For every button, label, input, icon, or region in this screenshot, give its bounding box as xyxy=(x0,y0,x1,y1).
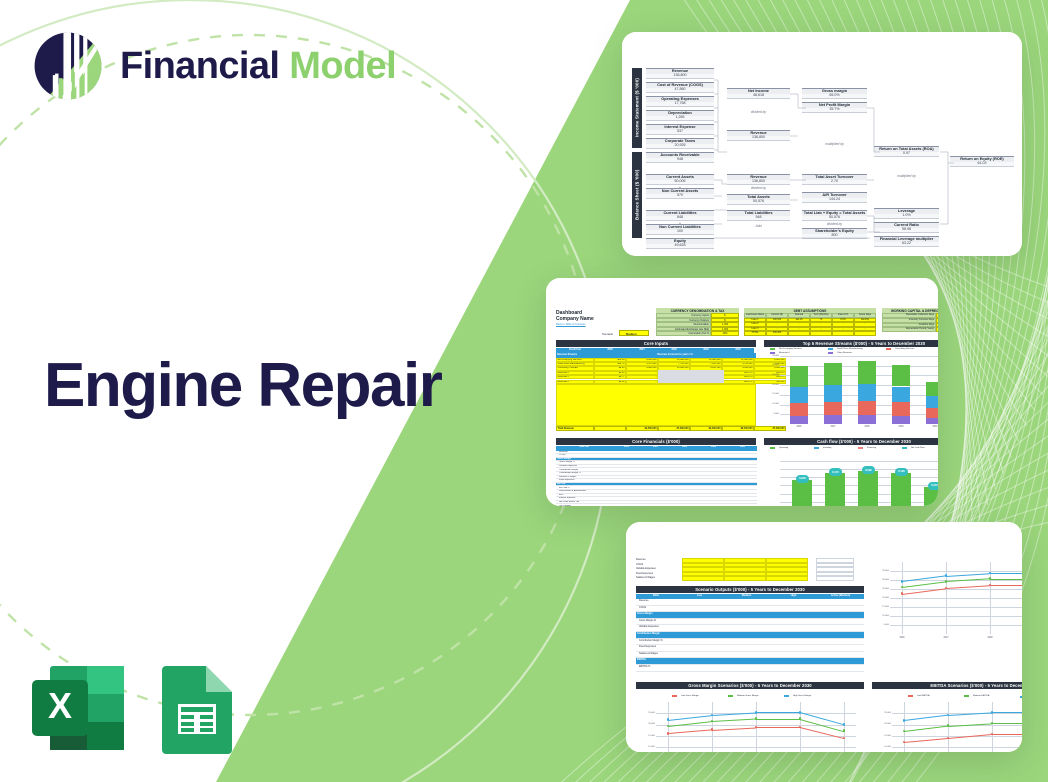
revenue-bar-2-0 xyxy=(858,415,876,424)
scenario-row-cell-7-1 xyxy=(723,645,770,652)
scen-ytick-266-2: 15,000 xyxy=(876,735,891,737)
cashflow-bar-2 xyxy=(858,471,878,506)
scen-ytick-264-6: 35,000 xyxy=(874,570,889,572)
scen-pt-30-1-4 xyxy=(843,729,846,732)
core-fin-cell-15-0 xyxy=(612,505,641,507)
ratio-node-3-value: 144.24 xyxy=(802,198,867,203)
balance-node-1-value: 50,006 xyxy=(646,180,714,185)
cashflow-legend-0: Operating xyxy=(770,447,788,449)
core-input-total-1 xyxy=(594,426,626,431)
balance-node-3-value: 848 xyxy=(646,216,714,221)
scen-xtick-264-1: 2027 xyxy=(937,637,955,639)
scen-legend-30-1: Medium Gross Margin xyxy=(728,695,759,697)
operator-divided-2: divided by xyxy=(727,186,790,190)
legend-swatch-1 xyxy=(728,695,733,697)
scenario-row-cell-1-1 xyxy=(723,606,770,613)
scen-legend-30-2: High Gross Margin xyxy=(784,695,811,697)
scenario-row-label-8: Salaries & Wages xyxy=(636,652,676,659)
scenario-row-cell-3-2 xyxy=(770,619,817,626)
revenue-ytick-2: 10,000 xyxy=(766,403,779,405)
scenario-row-cell-1-2 xyxy=(770,606,817,613)
revenue-bar-1-1 xyxy=(824,402,842,416)
scenario-row-cell-4-0 xyxy=(676,625,723,632)
scen-ytick-266-3: 20,000 xyxy=(876,723,891,725)
scenario-row-label-0: Revenue xyxy=(636,599,676,606)
core-input-header-0: Fixed/Year xyxy=(556,348,594,353)
panel-header-1: Top 5 Revenue Streams ($'000) - 5 Years … xyxy=(764,340,938,347)
revenue-ytick-7: 35,000 xyxy=(766,355,779,357)
revenue-bar-1-2 xyxy=(824,385,842,401)
income-node-1-value: 47,880 xyxy=(646,88,714,93)
scen-pt-30-0-4 xyxy=(843,723,846,726)
scenario-row-cell-0-3 xyxy=(817,599,864,606)
revenue-ytick-6: 30,000 xyxy=(766,364,779,366)
revenue-ytick-1: 5,000 xyxy=(766,413,779,415)
scen-legend-266-2: High EBITDA xyxy=(1020,695,1022,699)
scen-toprow-cell-4-1 xyxy=(724,576,766,581)
legend-label-0: Operating xyxy=(779,447,788,449)
core-input-header-1: 2026 xyxy=(594,348,626,353)
revenue-bar-2-1 xyxy=(858,401,876,415)
legend-swatch-0 xyxy=(672,695,677,697)
revenue-bar-4-0 xyxy=(926,418,938,424)
scenario-panel-header-1: Gross Margin Scenarios ($'000) - 5 Years… xyxy=(636,682,864,689)
scenario-row-cell-10-0 xyxy=(676,665,723,672)
legend-swatch-3 xyxy=(770,352,775,354)
scenario-row-label-9: EBITDA xyxy=(636,658,676,665)
core-input-total-2: 33,450,000 xyxy=(626,426,658,431)
final-node-1: Leverage1.0% xyxy=(874,208,939,219)
scen-ytick-266-4: 25,000 xyxy=(876,712,891,714)
dashboard-toc-link[interactable]: Back to Table of Contents xyxy=(556,323,586,326)
revenue-bar-1-3 xyxy=(824,363,842,385)
legend-label-0: Low EBITDA xyxy=(917,695,930,697)
revenue-bar-3-3 xyxy=(892,365,910,387)
revenue-bar-3-2 xyxy=(892,387,910,403)
scenario-row-cell-6-2 xyxy=(770,639,817,646)
scenario-row-label-7: Fixed Expenses xyxy=(636,645,676,652)
scen-seg-266-1-0 xyxy=(904,726,948,732)
scen-seg-30-1-1 xyxy=(712,719,756,722)
scen-seg-266-1-2 xyxy=(992,723,1022,724)
mid-node-1-value: 136,800 xyxy=(727,136,790,141)
core-input-total-0: Total Revenue xyxy=(556,426,594,431)
income-node-0: Revenue136,800 xyxy=(646,68,714,79)
ratio-node-2: Total Asset Turnover2.70 xyxy=(802,174,867,185)
dupont-ratio-tree-screenshot[interactable]: Income Statement ($ '000) Balance Sheet … xyxy=(622,32,1022,256)
operator-add: Add xyxy=(727,224,790,228)
revenue-bar-4-2 xyxy=(926,396,938,408)
scen-ytick-264-3: 20,000 xyxy=(874,597,889,599)
income-node-4-value: 537 xyxy=(646,130,714,135)
income-node-3: Depreciation1,265 xyxy=(646,110,714,121)
income-node-1: Cost of Revenue (COGS)47,880 xyxy=(646,82,714,93)
mid-node-1: Revenue136,800 xyxy=(727,130,790,141)
revenue-bar-0-1 xyxy=(790,403,808,416)
scenario-row-label-10: EBITDA % xyxy=(636,665,676,672)
scen-xtick-264-0: 2026 xyxy=(893,637,911,639)
ratio-node-5-value: 800 xyxy=(802,234,867,239)
final-node-0-value: 0.97 xyxy=(874,152,939,157)
scen-ytick-264-0: 5,000 xyxy=(874,624,889,626)
core-input-blank-block xyxy=(658,370,724,383)
scen-seg-30-2-0 xyxy=(668,730,712,734)
mid-node-0: Net Income48,618 xyxy=(727,88,790,99)
brand-word-financial: Financial xyxy=(120,45,279,87)
assumption-1-cell-3-1: 100,000 xyxy=(766,331,788,336)
revenue-legend-3: Revenue 4 xyxy=(770,352,790,354)
core-input-filler xyxy=(556,384,756,426)
scenario-row-cell-9-1 xyxy=(723,658,770,665)
scenario-row-cell-9-3 xyxy=(817,658,864,665)
legend-swatch-0 xyxy=(908,695,913,697)
cashflow-legend-2: Financing xyxy=(858,447,876,449)
dashboard-screenshot[interactable]: Dashboard Company Name Back to Table of … xyxy=(546,278,938,506)
scenario-panel-header-2: EBITDA Scenarios ($'000) - 5 Years to De… xyxy=(872,682,1022,689)
scenario-row-cell-5-1 xyxy=(723,632,770,639)
scen-seg-264-0-2 xyxy=(990,573,1022,574)
balance-node-2: Non Current Assets570 xyxy=(646,188,714,199)
scenario-row-cell-6-3 xyxy=(817,639,864,646)
slide-canvas: Financial Model Engine Repair X xyxy=(0,0,1048,782)
scen-seg-264-0-0 xyxy=(902,576,946,582)
core-input-total-6: 37,230,000 xyxy=(754,426,786,431)
legend-label-2: Consulting Services xyxy=(895,348,914,350)
legend-label-0: Low Gross Margin xyxy=(681,695,699,697)
scen-seg-30-2-2 xyxy=(756,727,800,728)
scenario-row-cell-8-1 xyxy=(723,652,770,659)
scen-seg-30-0-3 xyxy=(800,712,844,725)
scenario-row-cell-5-3 xyxy=(817,632,864,639)
assumption-0-value-4: 19% xyxy=(711,331,739,336)
scenario-row-label-4: Variable Expenses xyxy=(636,625,676,632)
cashflow-bar-3 xyxy=(891,473,911,506)
dashboard-company-name: Company Name xyxy=(556,316,594,322)
operator-multiplied-1: multiplied by xyxy=(802,142,867,146)
revenue-xtick-0: 2026 xyxy=(790,426,808,428)
mid-node-2: Revenue136,800 xyxy=(727,174,790,185)
legend-swatch-2 xyxy=(1020,696,1022,698)
scenario-row-cell-9-0 xyxy=(676,658,723,665)
ratio-node-2-value: 2.70 xyxy=(802,180,867,185)
legend-swatch-1 xyxy=(828,348,833,350)
scenario-row-cell-4-1 xyxy=(723,625,770,632)
core-input-total-5: 38,150,000 xyxy=(722,426,754,431)
scenario-row-cell-8-3 xyxy=(817,652,864,659)
cashflow-bubble-2: 8,592 xyxy=(862,466,875,474)
scenario-row-cell-7-0 xyxy=(676,645,723,652)
revenue-bar-0-2 xyxy=(790,387,808,403)
legend-label-4: Other Revenue xyxy=(837,352,852,354)
scen-ytick-30-1: 10,000 xyxy=(640,746,655,748)
legend-swatch-4 xyxy=(828,352,833,354)
operator-divided-1: divided by xyxy=(727,110,790,114)
revenue-bar-1-0 xyxy=(824,415,842,424)
scen-seg-264-2-1 xyxy=(946,585,990,588)
scen-seg-264-2-2 xyxy=(990,585,1022,586)
revenue-ytick-4: 20,000 xyxy=(766,384,779,386)
revenue-bar-2-3 xyxy=(858,361,876,384)
file-format-icons: X xyxy=(28,662,238,754)
revenue-legend-2: Consulting Services xyxy=(886,348,914,350)
revenue-xtick-4: 2030 xyxy=(926,426,938,428)
revenue-legend-0: Re-Occupying Services xyxy=(770,348,802,350)
income-statement-side-label: Income Statement ($ '000) xyxy=(632,68,642,148)
scenario-row-cell-7-3 xyxy=(817,645,864,652)
ratio-node-3: A/R Turnover144.24 xyxy=(802,192,867,203)
revenue-ytick-5: 25,000 xyxy=(766,374,779,376)
brand-wordmark: Financial Model xyxy=(120,47,396,85)
scenario-select[interactable]: Medium xyxy=(619,330,649,336)
operator-multiplied-2: multiplied by xyxy=(874,174,939,178)
scenario-row-label-2: Gross Margin xyxy=(636,612,676,619)
scen-seg-264-0-1 xyxy=(946,573,990,576)
legend-swatch-0 xyxy=(770,447,775,449)
balance-node-0: Accounts Receivable948 xyxy=(646,152,714,163)
core-fin-cell-15-2 xyxy=(670,505,699,507)
legend-label-1: Small Parts Manufacturing xyxy=(837,348,863,350)
income-node-0-value: 136,800 xyxy=(646,74,714,79)
balance-node-0-value: 948 xyxy=(646,158,714,163)
scen-seg-30-0-0 xyxy=(668,715,712,720)
final-node-1-value: 1.0% xyxy=(874,214,939,219)
revenue-xtick-1: 2027 xyxy=(824,426,842,428)
revenue-bar-4-1 xyxy=(926,408,938,418)
scenario-row-cell-2-2 xyxy=(770,612,817,619)
scenario-row-cell-6-0 xyxy=(676,639,723,646)
income-node-5-value: 20,926 xyxy=(646,144,714,149)
legend-label-1: Medium Gross Margin xyxy=(737,695,759,697)
revenue-bar-0-3 xyxy=(790,366,808,387)
balance-node-1: Current Assets50,006 xyxy=(646,174,714,185)
scenario-row-cell-0-1 xyxy=(723,599,770,606)
revenue-xtick-3: 2029 xyxy=(892,426,910,428)
core-fin-row-15: Tax Payable xyxy=(556,505,612,507)
revenue-legend-1: Small Parts Manufacturing xyxy=(828,348,863,350)
scenario-row-cell-1-3 xyxy=(817,606,864,613)
balance-node-3: Current Liabilities848 xyxy=(646,210,714,221)
scen-xtick-264-2: 2028 xyxy=(981,637,999,639)
scenario-row-cell-4-3 xyxy=(817,625,864,632)
scenario-row-label-1: COGS xyxy=(636,606,676,613)
scenario-row-cell-5-0 xyxy=(676,632,723,639)
legend-swatch-3 xyxy=(902,447,907,449)
scenario-row-cell-0-0 xyxy=(676,599,723,606)
final-node-roe: Return on Equity (ROE)61.03 xyxy=(950,156,1014,167)
legend-label-3: Revenue 4 xyxy=(779,352,790,354)
scen-ytick-266-1: 10,000 xyxy=(876,746,891,748)
scen-toprow-active-4 xyxy=(816,576,854,581)
scen-toprow-cell-4-2 xyxy=(766,576,808,581)
balance-node-5: Equity49,628 xyxy=(646,238,714,249)
legend-swatch-2 xyxy=(886,348,891,350)
balance-node-4: Non Current Liabilities100 xyxy=(646,224,714,235)
scenario-row-cell-10-3 xyxy=(817,665,864,672)
core-input-header-3: 2028 xyxy=(658,348,690,353)
legend-label-0: Re-Occupying Services xyxy=(779,348,802,350)
balance-node-5-value: 49,628 xyxy=(646,244,714,249)
scen-seg-266-0-0 xyxy=(904,715,948,721)
income-node-4: Interest Expense537 xyxy=(646,124,714,135)
assumption-1-cell-3-2 xyxy=(788,331,810,336)
core-fin-cell-15-3 xyxy=(699,505,728,507)
panel-header-0: Core Inputs xyxy=(556,340,756,347)
scen-seg-264-1-2 xyxy=(990,579,1022,580)
final-node-3-value: 63.22 xyxy=(874,242,939,247)
scenario-outputs-screenshot[interactable]: RevenueCOGSVariable ExpensesFixed Expens… xyxy=(626,522,1022,752)
scen-toprow-cell-4-0 xyxy=(682,576,724,581)
cashflow-bubble-4: 5,010 xyxy=(928,482,938,490)
scen-legend-30-0: Low Gross Margin xyxy=(672,695,699,697)
assumption-2-label-3: Depreciation Period (Years) xyxy=(882,327,936,332)
balance-node-4-value: 100 xyxy=(646,230,714,235)
income-node-2: Operating Expenses17,758 xyxy=(646,96,714,107)
assumption-1-cell-3-3 xyxy=(810,331,832,336)
scenario-row-cell-2-1 xyxy=(723,612,770,619)
ratio-node-0: Gross margin65.0% xyxy=(802,88,867,99)
mid-node-4: Total Liabilities948 xyxy=(727,210,790,221)
mid-node-3-value: 50,576 xyxy=(727,200,790,205)
ratio-node-0-value: 65.0% xyxy=(802,94,867,99)
scen-seg-30-0-2 xyxy=(756,712,800,713)
brand-word-model: Model xyxy=(289,45,396,87)
scen-ytick-264-1: 10,000 xyxy=(874,615,889,617)
scenario-row-cell-1-0 xyxy=(676,606,723,613)
income-node-5: Corporate Taxes20,926 xyxy=(646,138,714,149)
final-node-2-value: 58.98 xyxy=(874,228,939,233)
mid-node-4-value: 948 xyxy=(727,216,790,221)
cashflow-bubble-1: 8,173 xyxy=(829,468,842,476)
revenue-bar-2-2 xyxy=(858,384,876,401)
assumption-2-value-3: 5 xyxy=(936,327,938,332)
scen-ytick-30-4: 25,000 xyxy=(640,712,655,714)
excel-icon[interactable]: X xyxy=(28,662,128,754)
core-fin-cell-15-4 xyxy=(728,505,757,507)
ratio-node-5: Shareholder's Equity800 xyxy=(802,228,867,239)
legend-swatch-2 xyxy=(784,695,789,697)
scenario-row-cell-9-2 xyxy=(770,658,817,665)
scenario-row-cell-3-3 xyxy=(817,619,864,626)
operator-divided-3: divided by xyxy=(802,222,867,226)
core-input-total-3: 37,460,000 xyxy=(658,426,690,431)
scenario-row-label-6: Contribution Margin % xyxy=(636,639,676,646)
revenue-legend-4: Other Revenue xyxy=(828,352,852,354)
scen-ytick-264-5: 30,000 xyxy=(874,579,889,581)
panel-header-3: Core Financials ($'000) xyxy=(556,438,756,445)
scenario-row-label-5: Contribution Margin xyxy=(636,632,676,639)
scenario-value: Medium xyxy=(626,332,637,336)
scenario-row-cell-3-1 xyxy=(723,619,770,626)
scenario-row-cell-2-0 xyxy=(676,612,723,619)
final-node-0: Return on Total Assets (ROA)0.97 xyxy=(874,146,939,157)
scen-seg-30-1-2 xyxy=(756,719,800,720)
scenario-label: Scenario xyxy=(602,332,613,336)
scen-seg-30-2-1 xyxy=(712,727,756,730)
scen-legend-266-0: Low EBITDA xyxy=(908,695,930,697)
scen-seg-266-0-2 xyxy=(992,712,1022,713)
legend-label-2: Financing xyxy=(867,447,876,449)
scen-ytick-264-2: 15,000 xyxy=(874,606,889,608)
scenario-row-cell-4-2 xyxy=(770,625,817,632)
revenue-bar-3-0 xyxy=(892,416,910,424)
scen-seg-264-1-0 xyxy=(902,581,946,587)
scenario-row-cell-10-1 xyxy=(723,665,770,672)
legend-swatch-2 xyxy=(858,447,863,449)
scen-toprow-label-4: Salaries & Wages xyxy=(636,576,682,581)
scenario-row-cell-3-0 xyxy=(676,619,723,626)
legend-label-1: Medium EBITDA xyxy=(973,695,989,697)
final-node-2: Current Ratio58.98 xyxy=(874,222,939,233)
scen-legend-266-1: Medium EBITDA xyxy=(964,695,989,697)
core-fin-cell-15-1 xyxy=(641,505,670,507)
scen-seg-266-2-0 xyxy=(904,738,948,743)
scenario-row-cell-0-2 xyxy=(770,599,817,606)
core-input-header-4: 2029 xyxy=(690,348,722,353)
mid-node-3: Total Assets50,576 xyxy=(727,194,790,205)
page-title: Engine Repair xyxy=(44,352,441,420)
scenario-row-cell-2-3 xyxy=(817,612,864,619)
brand-logo: Financial Model xyxy=(30,28,396,104)
google-sheets-icon[interactable] xyxy=(154,662,238,754)
income-node-2-value: 17,758 xyxy=(646,102,714,107)
svg-text:X: X xyxy=(48,685,72,726)
ratio-node-1-value: 35.7% xyxy=(802,108,867,113)
assumption-1-cell-3-4 xyxy=(832,331,854,336)
scen-seg-30-1-0 xyxy=(668,721,712,726)
scenario-row-label-3: Gross Margin % xyxy=(636,619,676,626)
core-input-header-2: 2027 xyxy=(626,348,658,353)
scenario-row-cell-10-2 xyxy=(770,665,817,672)
scenario-row-cell-7-2 xyxy=(770,645,817,652)
scen-ytick-30-3: 20,000 xyxy=(640,723,655,725)
ratio-node-4: Total Liab + Equity = Total Assets50,576 xyxy=(802,210,867,221)
revenue-bar-0-0 xyxy=(790,416,808,424)
ratio-node-1: Net Profit Margin35.7% xyxy=(802,102,867,113)
balance-node-2-value: 570 xyxy=(646,194,714,199)
scen-ytick-30-2: 15,000 xyxy=(640,735,655,737)
legend-swatch-1 xyxy=(964,695,969,697)
scenario-row-cell-8-2 xyxy=(770,652,817,659)
legend-swatch-0 xyxy=(770,348,775,350)
scenario-row-cell-5-2 xyxy=(770,632,817,639)
balance-sheet-side-label: Balance Sheet ($ '000) xyxy=(632,152,642,238)
legend-swatch-1 xyxy=(814,447,819,449)
cashflow-bubble-3: 8,126 xyxy=(895,468,908,476)
cashflow-bar-1 xyxy=(825,473,845,506)
cashflow-legend-3: Net Cash Flow xyxy=(902,447,925,449)
assumption-1-cell-3-0: TOTAL xyxy=(744,331,766,336)
circle-bar-chart-logo-icon xyxy=(30,28,106,104)
scen-ytick-264-4: 25,000 xyxy=(874,588,889,590)
scenario-row-cell-6-1 xyxy=(723,639,770,646)
ratio-node-4-value: 50,576 xyxy=(802,216,867,221)
panel-header-4: Cash flow ($'000) - 5 Years to December … xyxy=(764,438,938,445)
mid-node-2-value: 136,800 xyxy=(727,180,790,185)
assumption-0-label-4: Corporation Tax % xyxy=(656,331,711,336)
core-input-header-5: 2030 xyxy=(722,348,754,353)
legend-label-3: Net Cash Flow xyxy=(911,447,925,449)
mid-node-0-value: 48,618 xyxy=(727,94,790,99)
scen-seg-266-2-2 xyxy=(992,734,1022,735)
cashflow-bubble-0: 6,646 xyxy=(796,475,809,483)
revenue-bar-4-3 xyxy=(926,382,938,396)
final-node-3: Financial Leverage multiplier63.22 xyxy=(874,236,939,247)
cashflow-legend-1: Investing xyxy=(814,447,831,449)
income-node-3-value: 1,265 xyxy=(646,116,714,121)
assumption-1-cell-3-5 xyxy=(854,331,876,336)
cashflow-bar-0 xyxy=(792,480,812,506)
legend-label-2: High Gross Margin xyxy=(793,695,811,697)
